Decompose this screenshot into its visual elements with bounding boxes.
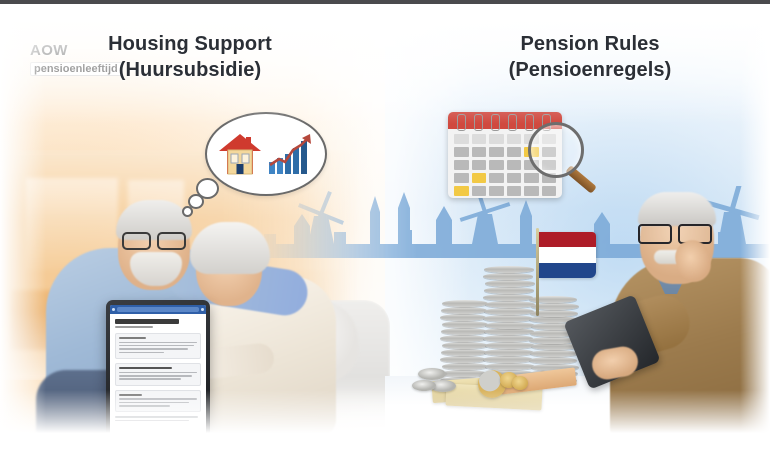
document-section (115, 390, 201, 413)
eyeglasses-icon (638, 224, 712, 240)
coin (442, 321, 488, 328)
coin (440, 356, 486, 363)
growth-bar-chart-icon (266, 132, 314, 176)
document-section (115, 333, 201, 359)
url-field[interactable] (117, 307, 199, 312)
flag-band-red (539, 232, 596, 247)
house-icon (218, 131, 262, 177)
browser-address-bar[interactable] (110, 305, 206, 314)
top-divider-rule (0, 0, 770, 4)
flag-band-white (539, 247, 596, 262)
left-panel-title: Housing Support (Huursubsidie) (40, 32, 340, 83)
coin (441, 307, 487, 314)
left-title-line1: Housing Support (108, 33, 272, 55)
coin (440, 314, 486, 321)
loose-coin (418, 368, 446, 380)
coin (530, 350, 578, 357)
thought-bubble-dot (182, 206, 193, 217)
coin (442, 363, 488, 370)
magnifier-lens (528, 122, 584, 178)
coin (484, 349, 534, 356)
browser-dot-icon (201, 308, 204, 311)
coin (483, 335, 533, 342)
document-page (110, 314, 206, 438)
coin (484, 308, 534, 315)
magnifier-icon (528, 122, 602, 196)
flag-band-blue (539, 263, 596, 278)
coin (484, 287, 534, 294)
coin (483, 273, 533, 280)
coin-stack (441, 300, 487, 384)
coin (483, 315, 533, 322)
coin (442, 300, 488, 307)
flag-cloth (539, 232, 596, 278)
thought-bubble (205, 112, 327, 196)
coin (441, 328, 487, 335)
coin (485, 280, 535, 287)
coin (529, 357, 577, 364)
coin (484, 266, 534, 273)
coin (485, 322, 535, 329)
senior-woman-hair (190, 222, 270, 274)
coin (442, 342, 488, 349)
left-title-line2: (Huursubsidie) (40, 58, 340, 84)
right-title-line2: (Pensioenregels) (440, 58, 740, 84)
coin (483, 356, 533, 363)
infographic-canvas: AOW pensioenleeftijd Housing Support (Hu… (0, 0, 770, 450)
right-panel-title: Pension Rules (Pensioenregels) (440, 32, 740, 83)
coin (441, 349, 487, 356)
gold-coin (512, 376, 528, 390)
loose-coin (412, 380, 436, 391)
netherlands-flag (536, 228, 596, 316)
coin (485, 301, 535, 308)
tablet-document[interactable] (106, 300, 210, 443)
coin-stack (484, 266, 534, 384)
coin (483, 294, 533, 301)
senior-man-right-hair (638, 192, 716, 226)
document-section (115, 363, 201, 386)
document-subheading (115, 326, 153, 328)
eyeglasses-icon (122, 232, 186, 246)
coin (484, 328, 534, 335)
document-heading (115, 319, 179, 324)
coin (485, 342, 535, 349)
browser-dot-icon (112, 308, 115, 311)
right-title-line1: Pension Rules (520, 33, 659, 55)
coin (440, 335, 486, 342)
